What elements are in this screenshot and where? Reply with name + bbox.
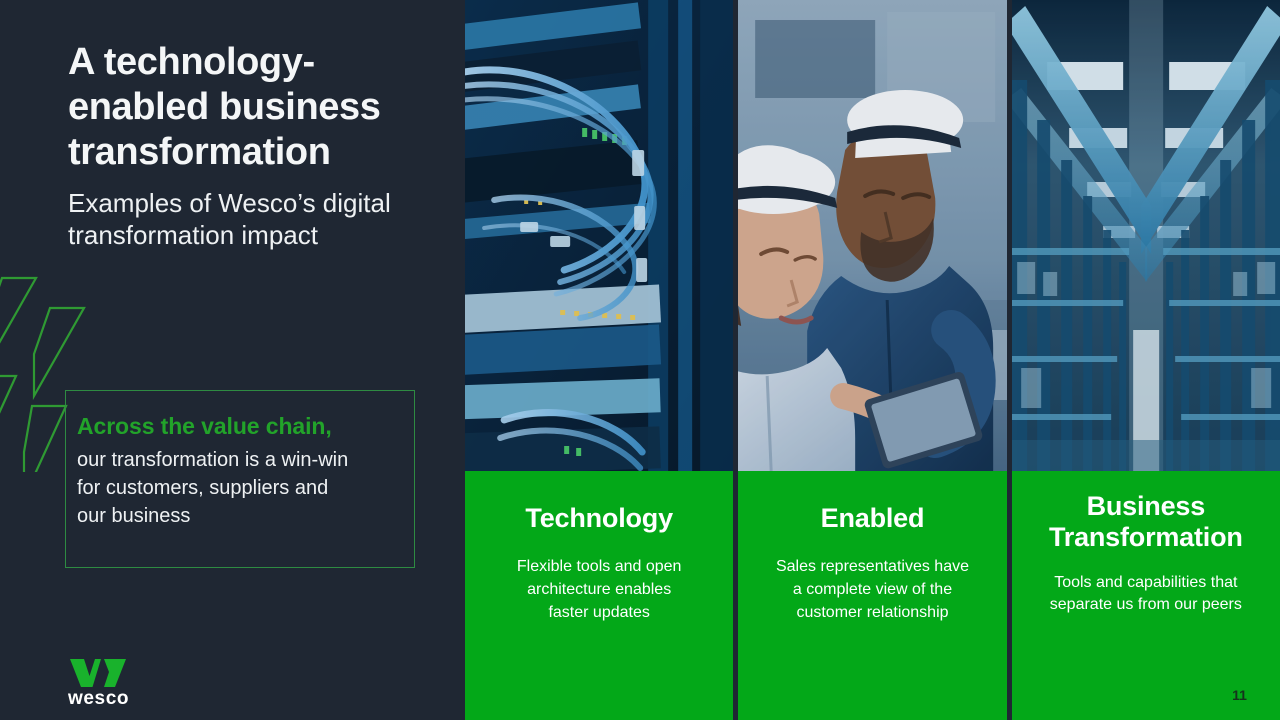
left-panel: A technology- enabled business transform… [0, 0, 465, 720]
page-subtitle: Examples of Wesco’s digital transformati… [68, 188, 448, 251]
server-rack-network-cables-photo [465, 0, 733, 471]
column-business-transformation: Business Transformation Tools and capabi… [1012, 0, 1280, 720]
callout-content: Across the value chain, our transformati… [77, 413, 407, 531]
column-business-transformation-body: Business Transformation Tools and capabi… [1012, 471, 1280, 720]
column-heading: Business Transformation [1026, 471, 1266, 554]
column-body-text: Flexible tools and open architecture ena… [479, 534, 719, 624]
slide: A technology- enabled business transform… [0, 0, 1280, 720]
feature-columns: Technology Flexible tools and open archi… [465, 0, 1280, 720]
callout-headline: Across the value chain, [77, 413, 407, 441]
page-title: A technology- enabled business transform… [68, 40, 448, 174]
column-technology: Technology Flexible tools and open archi… [465, 0, 733, 720]
column-enabled-body: Enabled Sales representatives have a com… [738, 471, 1006, 720]
column-heading: Enabled [752, 471, 992, 534]
warehouse-aisle-photo [1012, 0, 1280, 471]
column-enabled: Enabled Sales representatives have a com… [738, 0, 1006, 720]
callout-body-text: our transformation is a win-win for cust… [77, 446, 407, 531]
column-body-text: Sales representatives have a complete vi… [752, 534, 992, 624]
column-heading: Technology [479, 471, 719, 534]
value-chain-callout: Across the value chain, our transformati… [65, 390, 415, 568]
wesco-wordmark: wesco [68, 689, 188, 708]
title-block: A technology- enabled business transform… [68, 40, 448, 252]
column-technology-body: Technology Flexible tools and open archi… [465, 471, 733, 720]
workers-with-tablet-photo [738, 0, 1006, 471]
page-number: 11 [1232, 688, 1247, 702]
wesco-logo: wesco [68, 658, 188, 708]
wesco-w-mark-icon [68, 658, 128, 688]
column-body-text: Tools and capabilities that separate us … [1026, 554, 1266, 617]
